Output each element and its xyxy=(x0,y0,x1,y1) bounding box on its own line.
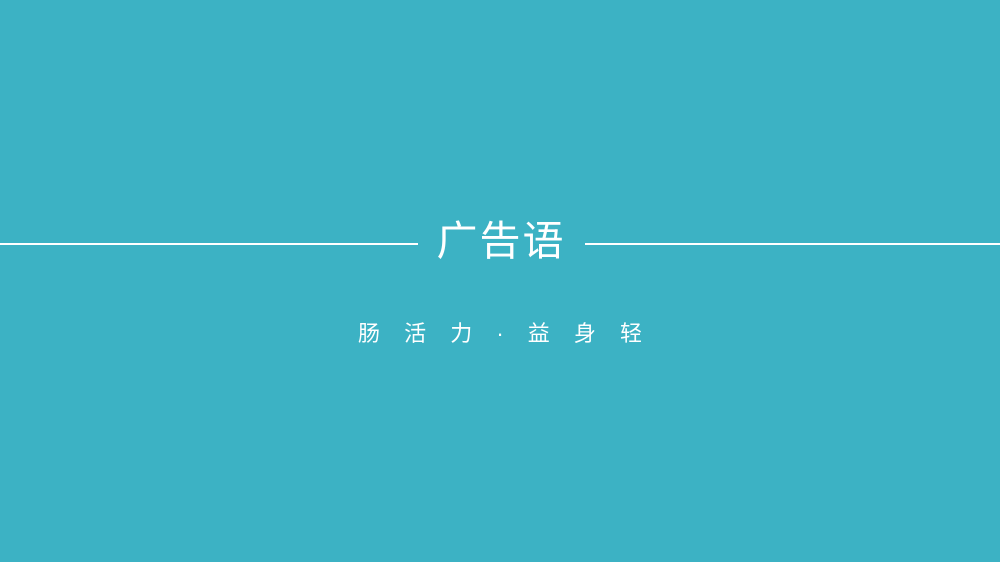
slide-canvas: 广告语 肠 活 力 · 益 身 轻 xyxy=(0,0,1000,562)
subtitle-block: 肠 活 力 · 益 身 轻 xyxy=(0,318,1000,350)
title-block: 广告语 xyxy=(0,214,1000,268)
page-title: 广告语 xyxy=(435,214,566,268)
slide-subtitle: 肠 活 力 · 益 身 轻 xyxy=(349,318,651,350)
